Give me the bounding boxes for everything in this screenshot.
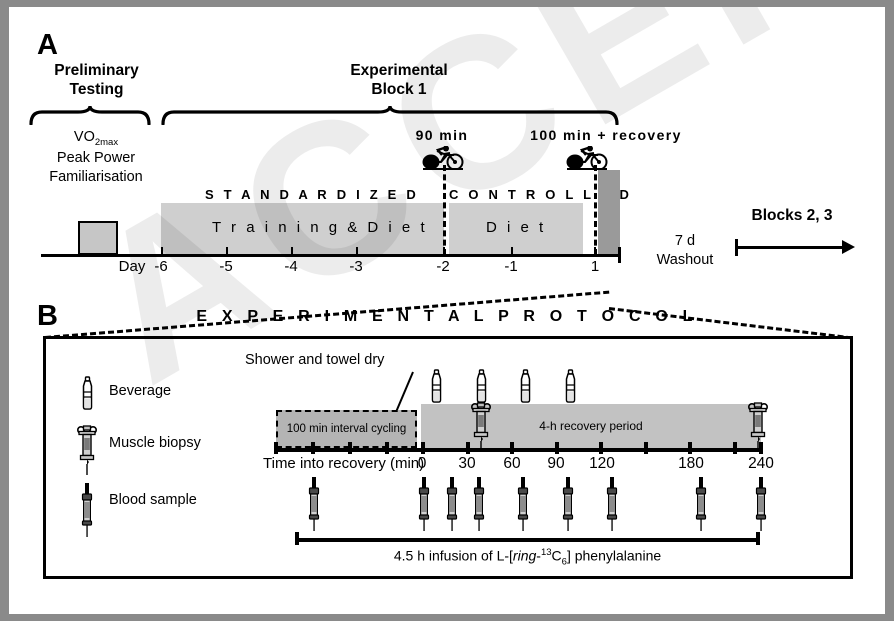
beverage-icon-t90 [562, 369, 579, 408]
blood-icon-t30 [471, 476, 487, 537]
time-tick--100 [274, 442, 278, 454]
figure-canvas: ACCEPTED A Preliminary Testing Experimen… [9, 7, 885, 614]
day-tick--3 [356, 247, 358, 255]
infusion-bracket-bar [295, 538, 760, 542]
dash-marker-day-minus2 [443, 165, 446, 255]
preliminary-testing-heading: Preliminary Testing [29, 62, 164, 100]
blood-icon-t60 [515, 476, 531, 537]
time-label-180: 180 [669, 455, 713, 473]
day-label--4: -4 [271, 258, 311, 275]
washout-line-1: 7 d [645, 232, 725, 251]
blood-icon-t15 [444, 476, 460, 537]
day-tick--2 [443, 247, 445, 255]
time-tick-90 [555, 442, 559, 454]
infusion-ring-italic: ring [513, 548, 536, 564]
protocol-box [43, 336, 853, 579]
preliminary-line-1: Preliminary [29, 62, 164, 81]
blood-icon-t240 [753, 476, 769, 537]
legend-label-beverage: Beverage [109, 383, 171, 399]
day-axis-end-cap [618, 247, 621, 263]
time-tick--25 [385, 442, 389, 454]
standardized-caption: S T A N D A R D I Z E D [205, 187, 419, 202]
brace-experimental [161, 105, 619, 125]
time-label-120: 120 [580, 455, 624, 473]
day-label--2: -2 [423, 258, 463, 275]
experimental-line-1: Experimental [309, 62, 489, 81]
beverage-icon-t60 [517, 369, 534, 408]
time-tick-60 [510, 442, 514, 454]
time-tick-210 [733, 442, 737, 454]
day-label--6: -6 [141, 258, 181, 275]
time-tick-240 [759, 442, 763, 454]
vo2max-label: VO2max [25, 128, 167, 149]
peak-power-label: Peak Power [25, 149, 167, 168]
next-blocks-label: Blocks 2, 3 [727, 207, 857, 226]
day-tick--4 [291, 247, 293, 255]
controlled-content: D i e t [486, 219, 546, 236]
trial-day-bar [598, 170, 620, 255]
preliminary-testing-block [78, 221, 118, 255]
time-tick-0 [421, 442, 425, 454]
legend-label-blood-sample: Blood sample [109, 492, 197, 508]
washout-label: 7 d Washout [645, 232, 725, 270]
time-label-60: 60 [494, 455, 530, 473]
blocks-arrow-line [735, 246, 843, 249]
familiarisation-label: Familiarisation [25, 168, 167, 187]
panel-a: A Preliminary Testing Experimental Block… [9, 7, 885, 292]
day-label--5: -5 [206, 258, 246, 275]
cycling-box: 100 min interval cycling [276, 410, 417, 448]
infusion-isotope-element: C [552, 548, 562, 564]
infusion-prefix: 4.5 h infusion of L-[ [394, 548, 513, 564]
time-tick--75 [311, 442, 315, 454]
preliminary-line-2: Testing [29, 81, 164, 100]
blood-icon-t0 [416, 476, 432, 537]
time-label-30: 30 [449, 455, 485, 473]
time-tick-120 [599, 442, 603, 454]
experimental-block-heading: Experimental Block 1 [309, 62, 489, 100]
time-label-240: 240 [739, 455, 783, 473]
time-tick-180 [688, 442, 692, 454]
blocks-arrow-head [842, 240, 855, 254]
experimental-line-2: Block 1 [309, 81, 489, 100]
blood-icon-t90 [560, 476, 576, 537]
brace-preliminary [29, 105, 151, 125]
dash-marker-day-1 [594, 165, 597, 255]
legend-bottle-icon [79, 376, 96, 415]
day-label--3: -3 [336, 258, 376, 275]
washout-line-2: Washout [645, 251, 725, 270]
time-tick-150 [644, 442, 648, 454]
beverage-icon-t0 [428, 369, 445, 408]
legend-biopsy-syringe-icon [75, 424, 99, 481]
infusion-suffix: ] phenylalanine [567, 548, 661, 564]
panel-a-letter: A [37, 29, 58, 62]
time-tick-30 [466, 442, 470, 454]
day-axis-line [41, 254, 620, 257]
legend-label-muscle-biopsy: Muscle biopsy [109, 435, 201, 451]
time-label-90: 90 [538, 455, 574, 473]
blood-icon-t180 [693, 476, 709, 537]
infusion-label: 4.5 h infusion of L-[ring-13C6] phenylal… [295, 547, 760, 567]
blood-icon-t120 [604, 476, 620, 537]
time-axis-name: Time into recovery (min) [263, 455, 424, 472]
legend-blood-syringe-icon [79, 482, 95, 543]
day-tick--1 [511, 247, 513, 255]
figure-container: ACCEPTED A Preliminary Testing Experimen… [0, 0, 894, 621]
time-tick--50 [348, 442, 352, 454]
cycling-box-label: 100 min interval cycling [278, 423, 415, 435]
day-tick-1 [594, 247, 596, 255]
time-label-0: 0 [404, 455, 440, 473]
shower-annotation-label: Shower and towel dry [245, 352, 384, 368]
panel-b-title: E X P E R I M E N T A L P R O T O C O L [9, 308, 885, 326]
blood-icon-pre [306, 476, 322, 537]
day-label-1: 1 [575, 258, 615, 275]
infusion-bracket-left-cap [295, 532, 299, 545]
day-tick--6 [161, 247, 163, 255]
bout-90min-label: 90 min [397, 127, 487, 143]
infusion-isotope-superscript: 13 [541, 547, 552, 558]
vo2max-subscript: 2max [95, 137, 118, 148]
bout-100min-label: 100 min + recovery [479, 127, 733, 143]
infusion-bracket-right-cap [756, 532, 760, 545]
day-label--1: -1 [491, 258, 531, 275]
preliminary-items: VO2max Peak Power Familiarisation [25, 128, 167, 187]
day-tick--5 [226, 247, 228, 255]
standardized-content: T r a i n i n g & D i e t [212, 219, 428, 236]
panel-b: B E X P E R I M E N T A L P R O T O C O … [9, 292, 885, 614]
